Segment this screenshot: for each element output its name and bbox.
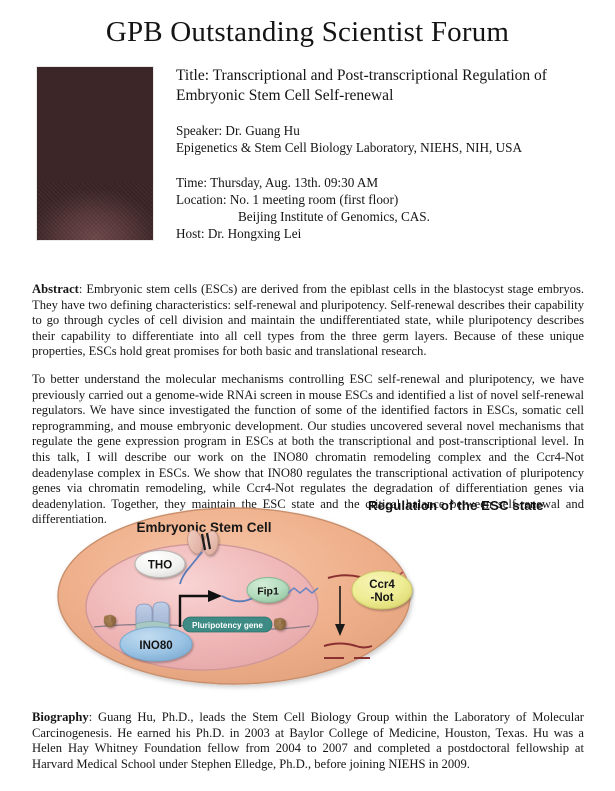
biography-section: Biography: Guang Hu, Ph.D., leads the St… (32, 710, 584, 772)
abstract-label: Abstract (32, 282, 79, 296)
ccr4not-label-line1: Ccr4 (369, 579, 395, 591)
speaker-photo (37, 67, 153, 240)
biography-label: Biography (32, 710, 89, 724)
abstract-text-1: : Embryonic stem cells (ESCs) are derive… (32, 282, 584, 358)
nucleosome-right-icon (274, 618, 286, 630)
talk-header: Title: Transcriptional and Post-transcri… (0, 66, 615, 251)
talk-location: Location: No. 1 meeting room (first floo… (176, 191, 596, 208)
pluripotency-gene-label: Pluripotency gene (192, 621, 263, 630)
ino80-label: INO80 (139, 640, 172, 652)
cell-label: Embryonic Stem Cell (136, 520, 271, 535)
talk-time: Time: Thursday, Aug. 13th. 09:30 AM (176, 174, 596, 191)
talk-host: Host: Dr. Hongxing Lei (176, 225, 596, 242)
photo-shirt-texture (37, 182, 153, 240)
talk-location-line2: Beijing Institute of Genomics, CAS. (176, 208, 596, 225)
talk-title: Title: Transcriptional and Post-transcri… (176, 66, 596, 106)
abstract-paragraph-1: Abstract: Embryonic stem cells (ESCs) ar… (32, 282, 584, 360)
figure-section: Regulation of the ESC state (0, 492, 615, 697)
biography-text: : Guang Hu, Ph.D., leads the Stem Cell B… (32, 710, 584, 771)
nucleus-ellipse (86, 544, 318, 670)
speaker-block: Speaker: Dr. Guang Hu Epigenetics & Stem… (176, 122, 596, 156)
logistics-block: Time: Thursday, Aug. 13th. 09:30 AM Loca… (176, 174, 596, 242)
nucleosome-left-icon (104, 615, 116, 627)
speaker-name: Speaker: Dr. Guang Hu (176, 122, 596, 139)
page-title: GPB Outstanding Scientist Forum (0, 16, 615, 49)
esc-regulation-diagram: Embryonic Stem Cell INO80 (52, 500, 472, 696)
speaker-affiliation: Epigenetics & Stem Cell Biology Laborato… (176, 139, 596, 156)
talk-details: Title: Transcriptional and Post-transcri… (176, 66, 596, 242)
fip1-label: Fip1 (257, 586, 279, 598)
tho-label: THO (148, 560, 172, 572)
ccr4not-label-line2: -Not (371, 592, 394, 604)
